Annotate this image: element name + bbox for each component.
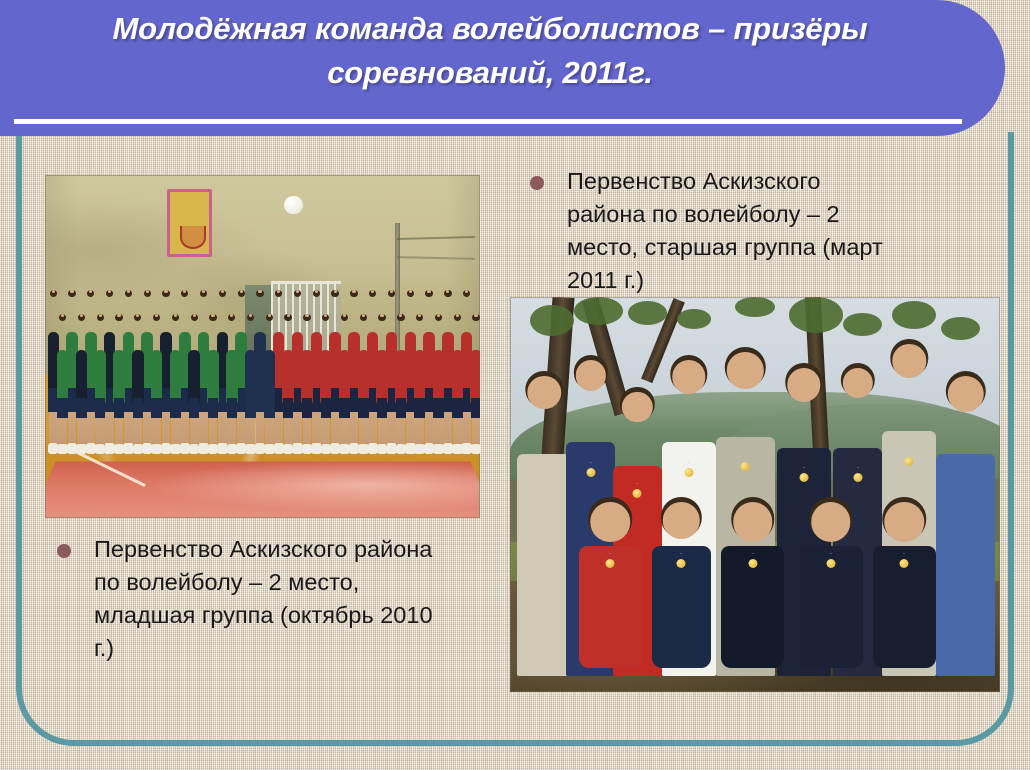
player — [357, 314, 370, 451]
player-head — [275, 290, 282, 297]
player-shoe — [189, 444, 199, 454]
player-shorts — [170, 398, 180, 419]
player-shorts — [245, 398, 255, 419]
player-face — [146, 290, 149, 293]
player-head — [162, 290, 169, 297]
player-face — [446, 290, 449, 293]
member-head — [843, 368, 873, 398]
player-face — [362, 314, 365, 317]
player-shoe — [133, 444, 143, 454]
player-head — [341, 314, 348, 321]
player-face — [305, 314, 308, 317]
player-face — [427, 290, 430, 293]
player-shorts — [208, 398, 218, 419]
player-face — [61, 314, 64, 317]
member-head — [576, 360, 606, 390]
player-face — [352, 290, 355, 293]
medal-icon — [606, 559, 615, 568]
player-shoe — [264, 444, 274, 454]
player-head — [219, 290, 226, 297]
player-shorts — [339, 398, 349, 419]
player-jersey — [95, 350, 106, 405]
medal-icon — [748, 559, 757, 568]
bullet-senior-group-text: Первенство Аскизского района по волейбол… — [567, 165, 895, 297]
player-jersey — [151, 350, 162, 405]
player-jersey — [207, 350, 218, 405]
player-jersey — [301, 350, 312, 405]
player-shorts — [133, 398, 143, 419]
player-head — [266, 314, 273, 321]
player-shoe — [283, 444, 293, 454]
player-head — [59, 314, 66, 321]
player-jersey — [245, 350, 256, 405]
bullet-junior-group: Первенство Аскизского района по волейбол… — [57, 533, 437, 665]
bullet-dot-icon — [530, 176, 544, 190]
player-face — [89, 290, 92, 293]
title-line-1: Молодёжная команда волейболистов – призё… — [0, 7, 980, 51]
player-head — [238, 290, 245, 297]
player-head — [106, 290, 113, 297]
gym-teams-photo — [45, 175, 480, 518]
player — [432, 314, 445, 451]
player-jersey — [395, 350, 406, 405]
member-head — [672, 360, 705, 393]
player-shorts — [189, 398, 199, 419]
member-head — [622, 392, 652, 422]
player-shorts — [57, 398, 67, 419]
player — [376, 314, 389, 451]
medal-icon — [853, 473, 862, 482]
player — [394, 314, 407, 451]
page-title: Молодёжная команда волейболистов – призё… — [0, 7, 980, 95]
player-face — [174, 314, 177, 317]
player-shoe — [302, 444, 312, 454]
player-face — [183, 290, 186, 293]
player-face — [465, 290, 468, 293]
member-head — [528, 376, 561, 409]
player — [188, 314, 201, 451]
player-face — [193, 314, 196, 317]
player-jersey — [452, 350, 463, 405]
player-jersey — [57, 350, 68, 405]
player-shorts — [302, 398, 312, 419]
player-shoe — [433, 444, 443, 454]
title-line-2: соревнований, 2011г. — [0, 51, 980, 95]
player-shorts — [76, 398, 86, 419]
medal-icon — [677, 559, 686, 568]
player-head — [322, 314, 329, 321]
player-face — [399, 314, 402, 317]
player-jersey — [320, 350, 331, 405]
player-head — [397, 314, 404, 321]
player-face — [277, 290, 280, 293]
player-face — [155, 314, 158, 317]
player-face — [117, 314, 120, 317]
medal-icon — [741, 462, 750, 471]
player-jersey — [282, 350, 293, 405]
bullet-senior-group: Первенство Аскизского района по волейбол… — [530, 165, 895, 297]
player-shoe — [227, 444, 237, 454]
player-shorts — [414, 398, 424, 419]
bullet-junior-group-text: Первенство Аскизского района по волейбол… — [94, 533, 437, 665]
player-shorts — [321, 398, 331, 419]
player-face — [456, 314, 459, 317]
player-jersey — [433, 350, 444, 405]
player-face — [52, 290, 55, 293]
member-head — [787, 368, 820, 401]
player-shoe — [76, 444, 86, 454]
player-head — [209, 314, 216, 321]
medal-icon — [586, 468, 595, 477]
player-face — [380, 314, 383, 317]
medal-icon — [826, 559, 835, 568]
player-face — [249, 314, 252, 317]
player-jersey — [414, 350, 425, 405]
player-shoe — [245, 444, 255, 454]
player-shorts — [433, 398, 443, 419]
player-head — [181, 290, 188, 297]
player-head — [378, 314, 385, 321]
player-head — [407, 290, 414, 297]
player-head — [200, 290, 207, 297]
member-torso — [517, 454, 571, 676]
team-member-crouching — [652, 502, 711, 668]
player-shoe — [452, 444, 462, 454]
player-head — [50, 290, 57, 297]
player-shoe — [57, 444, 67, 454]
player-face — [127, 290, 130, 293]
slide: Молодёжная команда волейболистов – призё… — [0, 0, 1030, 770]
player-shorts — [377, 398, 387, 419]
player-face — [371, 290, 374, 293]
player-head — [78, 314, 85, 321]
player-shoe — [208, 444, 218, 454]
player-head — [313, 290, 320, 297]
player — [300, 314, 313, 451]
medal-icon — [633, 489, 642, 498]
player-face — [409, 290, 412, 293]
player-shoe — [339, 444, 349, 454]
player-shorts — [264, 398, 274, 419]
player-face — [202, 290, 205, 293]
player-shorts — [471, 398, 480, 419]
player — [75, 314, 88, 451]
player-shorts — [452, 398, 462, 419]
player-face — [343, 314, 346, 317]
player-head — [360, 314, 367, 321]
player-head — [444, 290, 451, 297]
member-head — [811, 502, 850, 541]
player-head — [284, 314, 291, 321]
player-head — [172, 314, 179, 321]
player-face — [390, 290, 393, 293]
player — [470, 314, 480, 451]
player-head — [416, 314, 423, 321]
member-head — [663, 502, 699, 538]
player — [244, 314, 257, 451]
player-shoe — [151, 444, 161, 454]
player — [150, 314, 163, 451]
player-head — [144, 290, 151, 297]
player-shoe — [471, 444, 480, 454]
player-jersey — [113, 350, 124, 405]
player-face — [315, 290, 318, 293]
medal-team-photo — [510, 297, 1000, 692]
member-head — [733, 502, 772, 541]
player-head — [228, 314, 235, 321]
bullet-dot-icon — [57, 544, 71, 558]
player-jersey — [470, 350, 480, 405]
player-face — [418, 314, 421, 317]
player-shoe — [396, 444, 406, 454]
team-member-crouching — [579, 502, 643, 668]
player-face — [164, 290, 167, 293]
player-head — [115, 314, 122, 321]
player-shorts — [95, 398, 105, 419]
member-head — [727, 352, 763, 388]
player-face — [287, 314, 290, 317]
player — [319, 314, 332, 451]
player-face — [221, 290, 224, 293]
player-face — [230, 314, 233, 317]
member-head — [947, 376, 983, 412]
player-shoe — [321, 444, 331, 454]
player-face — [268, 314, 271, 317]
player — [206, 314, 219, 451]
player — [169, 314, 182, 451]
team-member-crouching — [799, 502, 863, 668]
player-jersey — [226, 350, 237, 405]
player-face — [324, 314, 327, 317]
member-torso — [936, 454, 995, 676]
player-head — [68, 290, 75, 297]
player — [225, 314, 238, 451]
team-member-crouching — [873, 502, 937, 668]
player-head — [247, 314, 254, 321]
player-jersey — [132, 350, 143, 405]
player-head — [463, 290, 470, 297]
player-shorts — [151, 398, 161, 419]
player-jersey — [264, 350, 275, 405]
player-head — [191, 314, 198, 321]
player-jersey — [358, 350, 369, 405]
player-face — [80, 314, 83, 317]
player-head — [435, 314, 442, 321]
player-shorts — [283, 398, 293, 419]
player-head — [472, 314, 479, 321]
player-shoe — [377, 444, 387, 454]
player-shoe — [114, 444, 124, 454]
player-face — [258, 290, 261, 293]
player-jersey — [376, 350, 387, 405]
player-shorts — [227, 398, 237, 419]
team-member-crouching — [721, 502, 785, 668]
medal-icon — [900, 559, 909, 568]
player-head — [294, 290, 301, 297]
player-jersey — [339, 350, 350, 405]
player-head — [454, 314, 461, 321]
player — [131, 314, 144, 451]
player-face — [240, 290, 243, 293]
player-shoe — [95, 444, 105, 454]
player-face — [136, 314, 139, 317]
player-face — [474, 314, 477, 317]
player — [451, 314, 464, 451]
member-head — [591, 502, 630, 541]
member-head — [885, 502, 924, 541]
player-face — [296, 290, 299, 293]
player-face — [437, 314, 440, 317]
player-head — [134, 314, 141, 321]
player-head — [87, 290, 94, 297]
player-head — [125, 290, 132, 297]
player-head — [425, 290, 432, 297]
member-head — [893, 344, 926, 377]
medal-icon — [684, 468, 693, 477]
player — [282, 314, 295, 451]
player-head — [350, 290, 357, 297]
title-bar: Молодёжная команда волейболистов – призё… — [0, 0, 1005, 136]
player-face — [211, 314, 214, 317]
team-member-standing — [517, 376, 571, 676]
player-head — [256, 290, 263, 297]
player — [94, 314, 107, 451]
medal-icon — [905, 457, 914, 466]
team-member-standing — [936, 376, 995, 676]
player-face — [108, 290, 111, 293]
player-face — [70, 290, 73, 293]
player-face — [99, 314, 102, 317]
player-head — [331, 290, 338, 297]
player-head — [369, 290, 376, 297]
player-face — [334, 290, 337, 293]
player — [113, 314, 126, 451]
player-shoe — [358, 444, 368, 454]
player-shorts — [358, 398, 368, 419]
player — [56, 314, 69, 451]
lined-up-players — [45, 280, 480, 452]
player-head — [153, 314, 160, 321]
title-underline — [14, 119, 962, 124]
player-shorts — [396, 398, 406, 419]
player-head — [97, 314, 104, 321]
player-shorts — [114, 398, 124, 419]
player-head — [388, 290, 395, 297]
player-jersey — [76, 350, 87, 405]
player-shoe — [414, 444, 424, 454]
player-jersey — [188, 350, 199, 405]
player — [263, 314, 276, 451]
player-jersey — [170, 350, 181, 405]
player — [413, 314, 426, 451]
player-head — [303, 314, 310, 321]
medal-icon — [799, 473, 808, 482]
player — [338, 314, 351, 451]
player-shoe — [170, 444, 180, 454]
